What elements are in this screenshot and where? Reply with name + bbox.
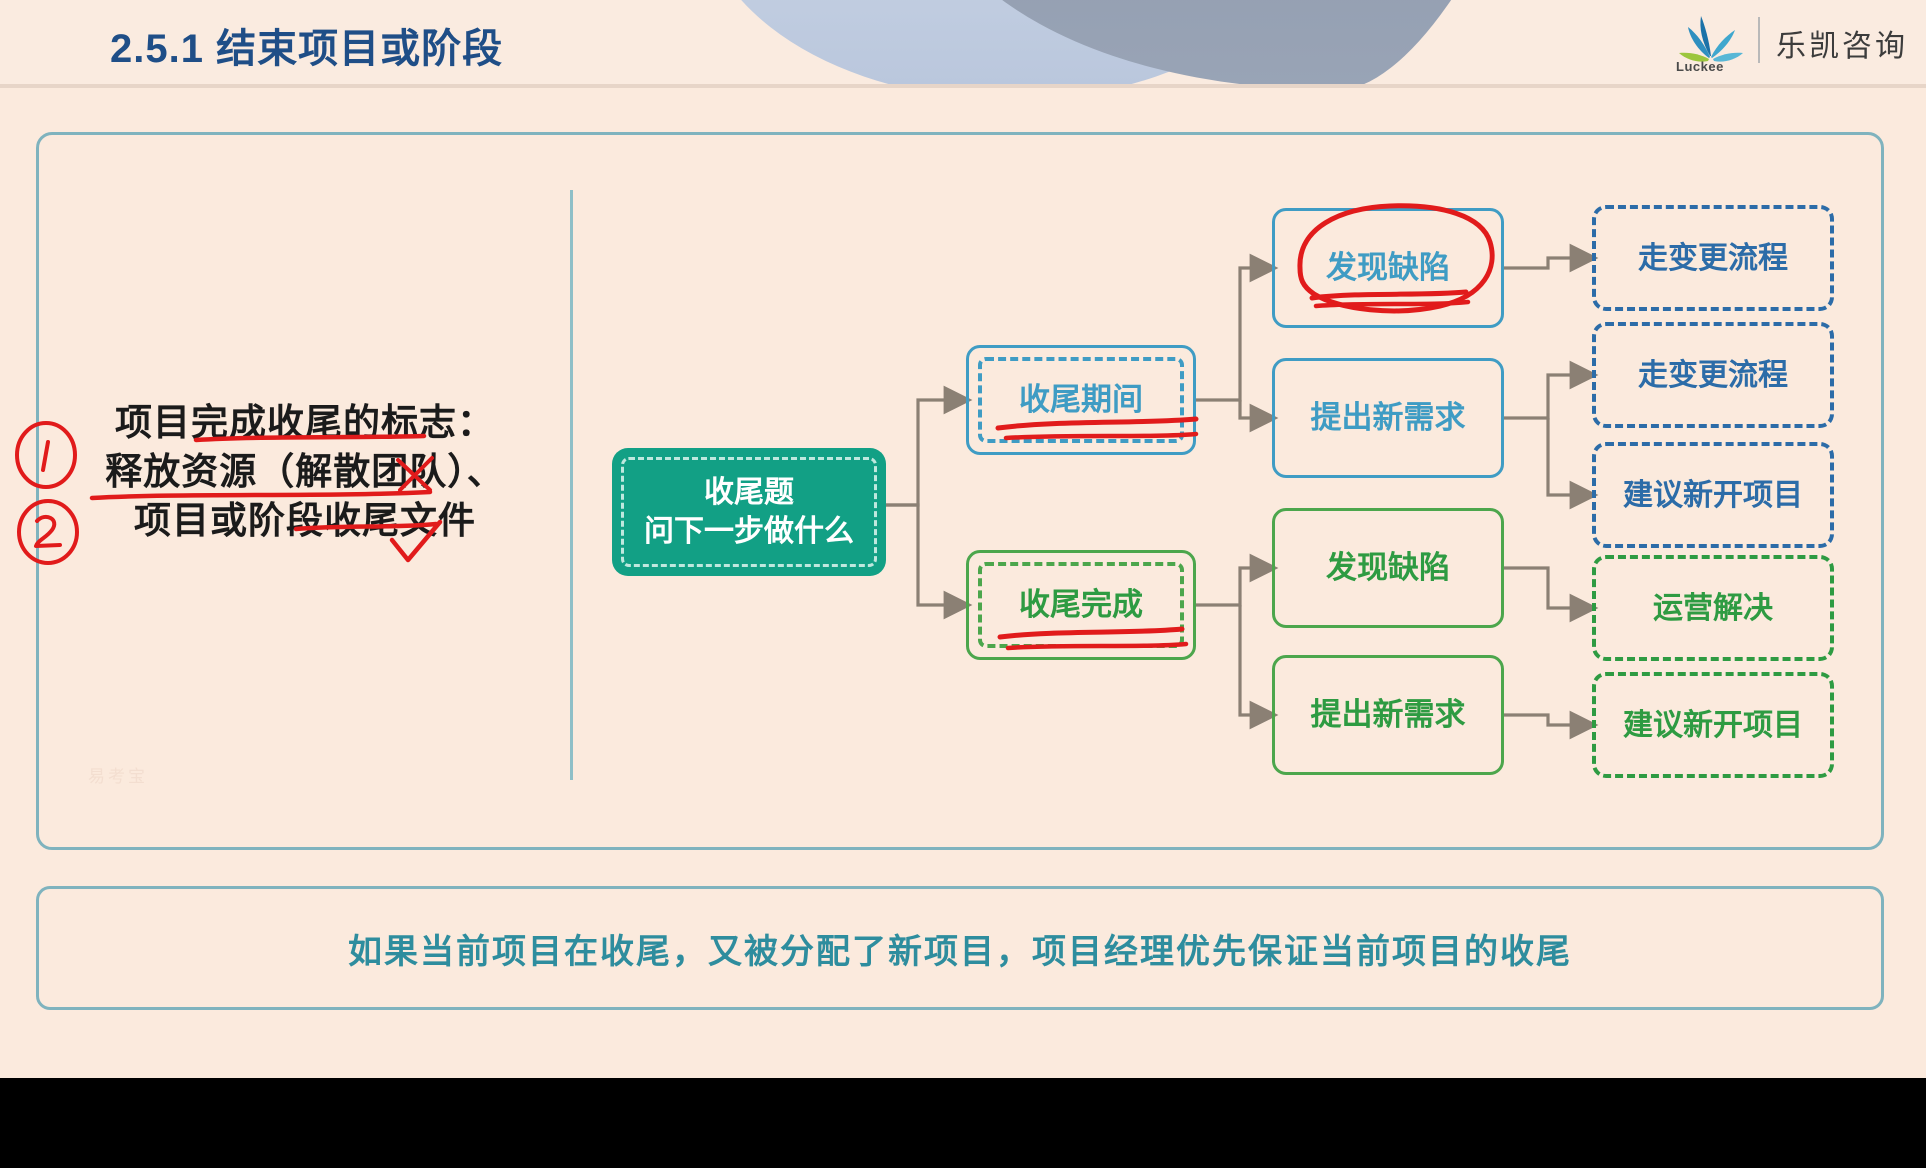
node-outcome-ops-resolve-label: 运营解决 bbox=[1653, 589, 1773, 628]
logo-divider bbox=[1758, 17, 1760, 63]
node-blue-defect-found-label: 发现缺陷 bbox=[1326, 248, 1450, 288]
brand-logo: Luckee 乐凯咨询 bbox=[1672, 8, 1908, 78]
node-green-new-requirement-label: 提出新需求 bbox=[1311, 695, 1466, 735]
node-branch-closing-complete[interactable]: 收尾完成 bbox=[966, 550, 1196, 660]
node-outcome-change-process-2[interactable]: 走变更流程 bbox=[1592, 322, 1834, 428]
node-outcome-new-project-blue[interactable]: 建议新开项目 bbox=[1592, 442, 1834, 548]
page-title: 2.5.1 结束项目或阶段 bbox=[110, 16, 503, 74]
vertical-divider bbox=[570, 190, 573, 780]
bottom-banner-text: 如果当前项目在收尾，又被分配了新项目，项目经理优先保证当前项目的收尾 bbox=[348, 924, 1572, 973]
node-root-text: 收尾题 问下一步做什么 bbox=[644, 473, 854, 551]
slide-canvas: 2.5.1 结束项目或阶段 Luckee 乐凯咨询 bbox=[0, 0, 1926, 1168]
node-blue-defect-found[interactable]: 发现缺陷 bbox=[1272, 208, 1504, 328]
node-outcome-new-project-blue-label: 建议新开项目 bbox=[1623, 476, 1803, 515]
bottom-banner: 如果当前项目在收尾，又被分配了新项目，项目经理优先保证当前项目的收尾 bbox=[36, 886, 1884, 1010]
node-root-line2: 问下一步做什么 bbox=[644, 512, 854, 551]
slide-header: 2.5.1 结束项目或阶段 Luckee 乐凯咨询 bbox=[0, 0, 1926, 88]
node-green-new-requirement[interactable]: 提出新需求 bbox=[1272, 655, 1504, 775]
slide-body: 2.5.1 结束项目或阶段 Luckee 乐凯咨询 bbox=[0, 0, 1926, 1078]
page-watermark: 易考宝 bbox=[88, 762, 148, 787]
logo-wordmark: Luckee bbox=[1676, 59, 1724, 74]
left-statement: 项目完成收尾的标志： 释放资源（解散团队）、 项目或阶段收尾文件 bbox=[70, 398, 540, 546]
node-green-defect-found[interactable]: 发现缺陷 bbox=[1272, 508, 1504, 628]
statement-line-3: 项目或阶段收尾文件 bbox=[70, 496, 540, 545]
node-blue-new-requirement[interactable]: 提出新需求 bbox=[1272, 358, 1504, 478]
node-outcome-change-process-1[interactable]: 走变更流程 bbox=[1592, 205, 1834, 311]
header-underline bbox=[0, 84, 1926, 88]
node-outcome-change-process-1-label: 走变更流程 bbox=[1638, 239, 1788, 278]
node-outcome-new-project-green[interactable]: 建议新开项目 bbox=[1592, 672, 1834, 778]
node-branch-during-closing[interactable]: 收尾期间 bbox=[966, 345, 1196, 455]
node-outcome-new-project-green-label: 建议新开项目 bbox=[1623, 706, 1803, 745]
logo-chinese-name: 乐凯咨询 bbox=[1776, 21, 1908, 65]
node-root[interactable]: 收尾题 问下一步做什么 bbox=[612, 448, 886, 576]
node-branch-closing-complete-label: 收尾完成 bbox=[1019, 585, 1143, 625]
luckee-fan-icon: Luckee bbox=[1672, 12, 1750, 74]
node-green-defect-found-label: 发现缺陷 bbox=[1326, 548, 1450, 588]
bottom-black-bar bbox=[0, 1078, 1926, 1168]
node-root-line1: 收尾题 bbox=[644, 473, 854, 512]
node-outcome-change-process-2-label: 走变更流程 bbox=[1638, 356, 1788, 395]
statement-line-1: 项目完成收尾的标志： bbox=[70, 398, 540, 447]
node-outcome-ops-resolve[interactable]: 运营解决 bbox=[1592, 555, 1834, 661]
node-blue-new-requirement-label: 提出新需求 bbox=[1311, 398, 1466, 438]
node-branch-during-closing-label: 收尾期间 bbox=[1019, 380, 1143, 420]
statement-line-2: 释放资源（解散团队）、 bbox=[70, 447, 540, 496]
